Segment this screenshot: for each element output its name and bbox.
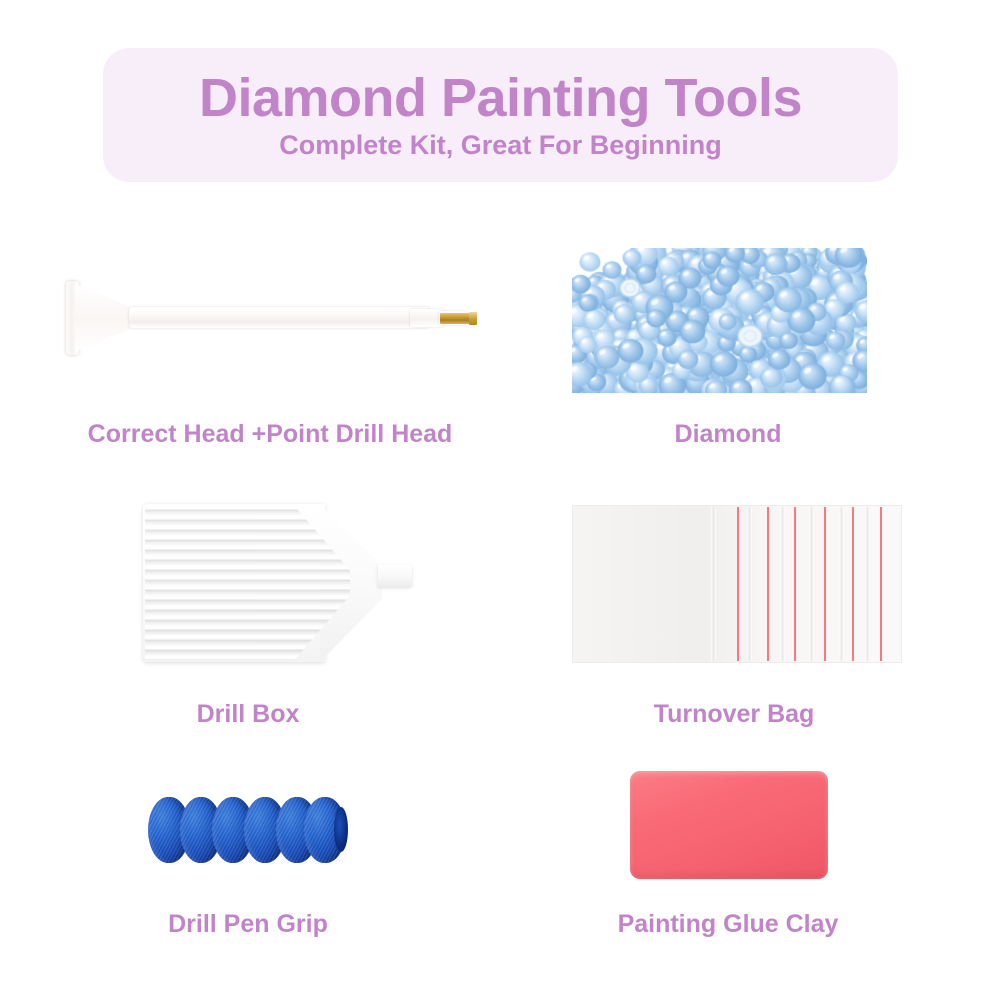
bag-stripe [737,507,739,661]
point-drill-head-tip-end [469,312,477,325]
pen-flare-shape [75,284,135,352]
item-label-glue-clay: Painting Glue Clay [618,910,839,939]
drill-box-image [140,498,415,670]
painting-glue-clay-image [630,771,828,879]
page-title: Diamond Painting Tools [199,70,802,127]
bag-crease [809,507,814,661]
turnover-bag-image [572,505,902,663]
bag-crease [780,507,785,661]
item-label-drill-pen-grip: Drill Pen Grip [168,910,328,939]
bag-panel-shade [573,506,698,662]
bag-crease [747,507,752,661]
clay-block [630,771,828,879]
item-label-drill-box: Drill Box [197,700,300,729]
bag-crease [865,507,870,661]
bag-stripe [880,507,882,661]
header-banner: Diamond Painting Tools Complete Kit, Gre… [103,48,898,182]
grip-end-cap [334,807,348,852]
tray-spout [378,565,412,587]
page-subtitle: Complete Kit, Great For Beginning [279,131,722,161]
pen-image [55,270,495,380]
diamond-drills-canvas [572,248,867,393]
diamond-image [572,248,867,393]
bag-stripe [824,507,826,661]
bag-crease [839,507,844,661]
item-label-correct-head: Correct Head +Point Drill Head [88,420,453,449]
bag-stripe [794,507,796,661]
item-label-diamond: Diamond [675,420,782,449]
drill-pen-grip-image [148,795,348,867]
bag-stripe [852,507,854,661]
pen-shaft [129,307,429,328]
item-label-turnover-bag: Turnover Bag [654,700,815,729]
bag-stripe [767,507,769,661]
bag-body [572,505,902,663]
bag-crease [711,507,716,661]
